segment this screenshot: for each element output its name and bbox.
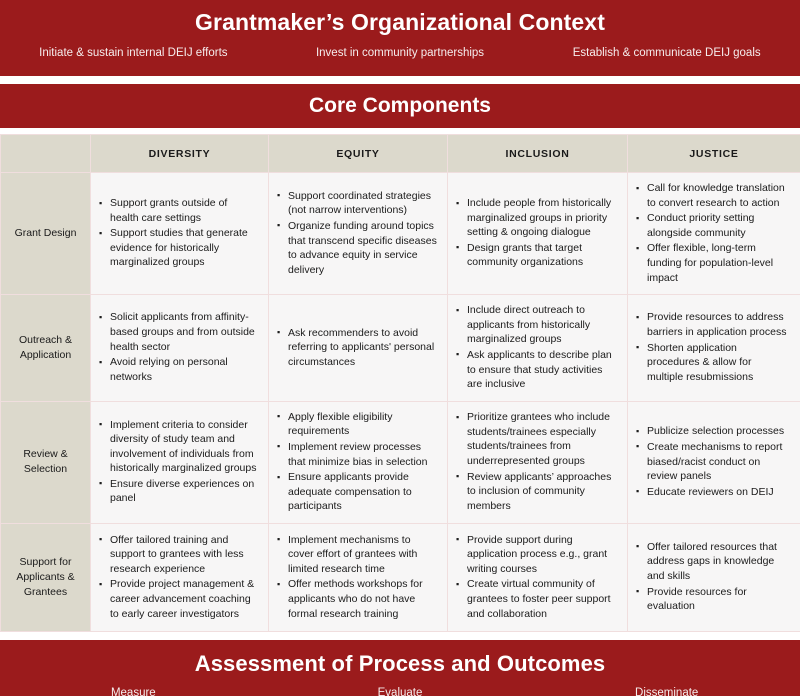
matrix-cell-bullet: Provide resources to address barriers in… [636, 310, 790, 339]
matrix-cell: Provide resources to address barriers in… [628, 295, 800, 402]
matrix-cell: Implement criteria to consider diversity… [91, 401, 269, 523]
core-components-matrix: DIVERSITY EQUITY INCLUSION JUSTICE Grant… [0, 134, 800, 632]
matrix-cell-bullet: Prioritize grantees who include students… [456, 410, 617, 468]
bottom-banner-subitems: Measure Evaluate Disseminate [0, 686, 800, 696]
matrix-row: Outreach & ApplicationSolicit applicants… [1, 295, 800, 402]
matrix-cell-bullet: Create virtual community of grantees to … [456, 577, 617, 621]
top-banner-subitems: Initiate & sustain internal DEIJ efforts… [0, 46, 800, 61]
matrix-cell: Include direct outreach to applicants fr… [448, 295, 628, 402]
matrix-cell-bullet: Implement review processes that minimize… [277, 440, 437, 469]
matrix-cell: Call for knowledge translation to conver… [628, 173, 800, 295]
matrix-cell: Offer tailored resources that address ga… [628, 523, 800, 631]
top-banner-subitem-3: Establish & communicate DEIJ goals [533, 46, 800, 61]
matrix-header-row: DIVERSITY EQUITY INCLUSION JUSTICE [1, 135, 800, 173]
matrix-cell-list: Provide resources to address barriers in… [636, 310, 790, 384]
matrix-cell: Prioritize grantees who include students… [448, 401, 628, 523]
matrix-cell-bullet: Solicit applicants from affinity-based g… [99, 310, 258, 354]
bottom-banner: Assessment of Process and Outcomes Measu… [0, 640, 800, 696]
matrix-cell-list: Support coordinated strategies (not narr… [277, 189, 437, 278]
matrix-cell-bullet: Apply flexible eligibility requirements [277, 410, 437, 439]
matrix-cell-bullet: Ensure applicants provide adequate compe… [277, 470, 437, 514]
matrix-cell: Include people from historically margina… [448, 173, 628, 295]
matrix-cell-bullet: Design grants that target community orga… [456, 241, 617, 270]
matrix-cell-bullet: Offer flexible, long-term funding for po… [636, 241, 790, 285]
matrix-cell-list: Implement criteria to consider diversity… [99, 418, 258, 507]
matrix-cell: Publicize selection processesCreate mech… [628, 401, 800, 523]
top-banner-subitem-2: Invest in community partnerships [267, 46, 534, 61]
matrix-row: Grant DesignSupport grants outside of he… [1, 173, 800, 295]
matrix-cell-bullet: Publicize selection processes [636, 424, 790, 439]
matrix-column-header-inclusion: INCLUSION [448, 135, 628, 173]
matrix-cell: Ask recommenders to avoid referring to a… [269, 295, 448, 402]
matrix-row-label: Support for Applicants & Grantees [1, 523, 91, 631]
matrix-cell: Support coordinated strategies (not narr… [269, 173, 448, 295]
matrix-row: Review & SelectionImplement criteria to … [1, 401, 800, 523]
matrix-cell: Support grants outside of health care se… [91, 173, 269, 295]
bottom-banner-subitem-1: Measure [0, 686, 267, 696]
matrix-cell-list: Ask recommenders to avoid referring to a… [277, 326, 437, 370]
matrix-cell-bullet: Shorten application procedures & allow f… [636, 341, 790, 385]
matrix-cell-bullet: Review applicants’ approaches to inclusi… [456, 470, 617, 514]
matrix-cell-bullet: Include people from historically margina… [456, 196, 617, 240]
matrix-cell-bullet: Provide project management & career adva… [99, 577, 258, 621]
matrix-cell-bullet: Avoid relying on personal networks [99, 355, 258, 384]
matrix-cell-bullet: Ask recommenders to avoid referring to a… [277, 326, 437, 370]
core-components-banner: Core Components [0, 84, 800, 128]
bottom-banner-title: Assessment of Process and Outcomes [0, 649, 800, 679]
matrix-cell-bullet: Support studies that generate evidence f… [99, 226, 258, 270]
matrix-cell-bullet: Offer tailored training and support to g… [99, 533, 258, 577]
matrix-corner-cell [1, 135, 91, 173]
matrix-cell-bullet: Support coordinated strategies (not narr… [277, 189, 437, 218]
matrix-row-label: Outreach & Application [1, 295, 91, 402]
matrix-cell-list: Offer tailored training and support to g… [99, 533, 258, 622]
matrix-cell-bullet: Implement criteria to consider diversity… [99, 418, 258, 476]
matrix-cell-bullet: Support grants outside of health care se… [99, 196, 258, 225]
matrix-cell-bullet: Ensure diverse experiences on panel [99, 477, 258, 506]
matrix-cell-list: Implement mechanisms to cover effort of … [277, 533, 437, 622]
matrix-cell: Implement mechanisms to cover effort of … [269, 523, 448, 631]
matrix-column-header-diversity: DIVERSITY [91, 135, 269, 173]
matrix-cell: Provide support during application proce… [448, 523, 628, 631]
matrix-cell-bullet: Call for knowledge translation to conver… [636, 181, 790, 210]
matrix-cell: Apply flexible eligibility requirementsI… [269, 401, 448, 523]
matrix-cell: Offer tailored training and support to g… [91, 523, 269, 631]
matrix-cell-list: Offer tailored resources that address ga… [636, 540, 790, 614]
infographic-page: Grantmaker’s Organizational Context Init… [0, 0, 800, 696]
matrix-cell-bullet: Offer tailored resources that address ga… [636, 540, 790, 584]
matrix-cell-bullet: Ask applicants to describe plan to ensur… [456, 348, 617, 392]
matrix-cell-list: Include people from historically margina… [456, 196, 617, 270]
matrix-cell-bullet: Offer methods workshops for applicants w… [277, 577, 437, 621]
matrix-cell-list: Prioritize grantees who include students… [456, 410, 617, 513]
matrix-cell-bullet: Implement mechanisms to cover effort of … [277, 533, 437, 577]
matrix-cell-bullet: Include direct outreach to applicants fr… [456, 303, 617, 347]
matrix-cell-bullet: Create mechanisms to report biased/racis… [636, 440, 790, 484]
matrix-body: Grant DesignSupport grants outside of he… [1, 173, 800, 632]
matrix-column-header-justice: JUSTICE [628, 135, 800, 173]
matrix-column-header-equity: EQUITY [269, 135, 448, 173]
matrix-cell-bullet: Organize funding around topics that tran… [277, 219, 437, 277]
matrix-cell: Solicit applicants from affinity-based g… [91, 295, 269, 402]
matrix-cell-list: Support grants outside of health care se… [99, 196, 258, 270]
bottom-banner-subitem-3: Disseminate [533, 686, 800, 696]
matrix-cell-bullet: Provide resources for evaluation [636, 585, 790, 614]
matrix-cell-list: Apply flexible eligibility requirementsI… [277, 410, 437, 514]
matrix-cell-list: Solicit applicants from affinity-based g… [99, 310, 258, 384]
bottom-banner-subitem-2: Evaluate [267, 686, 534, 696]
matrix-cell-list: Call for knowledge translation to conver… [636, 181, 790, 285]
matrix-cell-list: Provide support during application proce… [456, 533, 617, 622]
core-components-title: Core Components [309, 93, 491, 119]
matrix-row-label: Grant Design [1, 173, 91, 295]
matrix-cell-list: Publicize selection processesCreate mech… [636, 424, 790, 499]
top-banner-title: Grantmaker’s Organizational Context [0, 7, 800, 37]
matrix-cell-bullet: Conduct priority setting alongside commu… [636, 211, 790, 240]
matrix-cell-list: Include direct outreach to applicants fr… [456, 303, 617, 392]
matrix-cell-bullet: Educate reviewers on DEIJ [636, 485, 790, 500]
top-banner-subitem-1: Initiate & sustain internal DEIJ efforts [0, 46, 267, 61]
matrix-row: Support for Applicants & GranteesOffer t… [1, 523, 800, 631]
top-banner: Grantmaker’s Organizational Context Init… [0, 0, 800, 76]
matrix-cell-bullet: Provide support during application proce… [456, 533, 617, 577]
matrix-row-label: Review & Selection [1, 401, 91, 523]
